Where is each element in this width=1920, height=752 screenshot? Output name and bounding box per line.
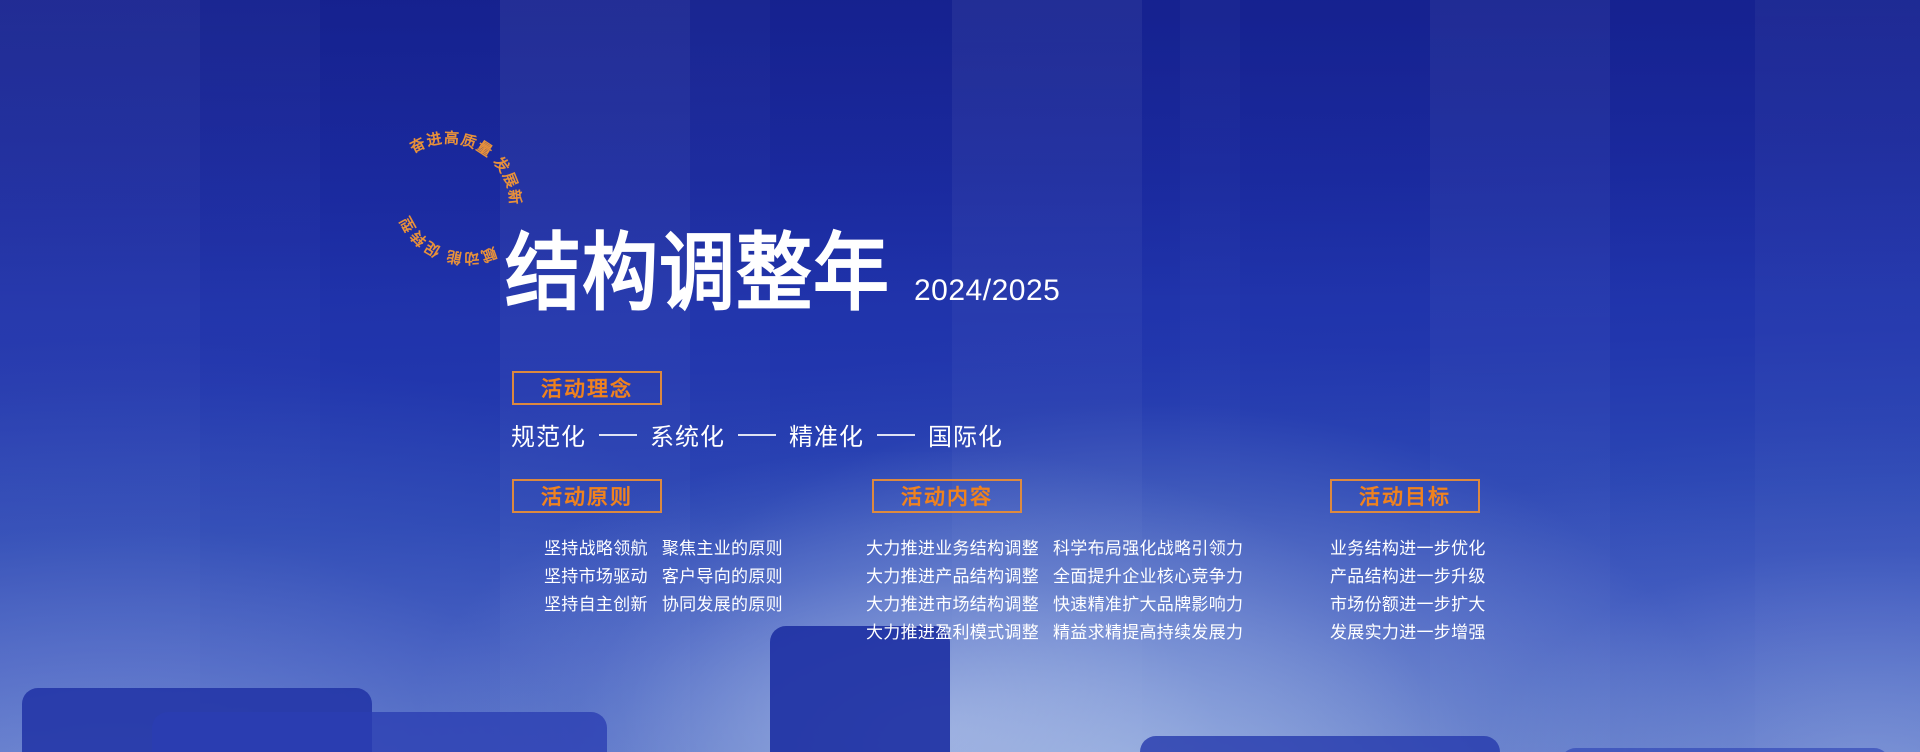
row-right: 协同发展的原则 xyxy=(662,591,783,619)
row-right: 全面提升企业核心竞争力 xyxy=(1053,563,1243,591)
concept-item: 系统化 xyxy=(650,417,725,452)
list-item: 市场份额进一步扩大 xyxy=(1330,591,1486,619)
badge-contents[interactable]: 活动内容 xyxy=(872,479,1022,513)
row-left: 产品结构进一步升级 xyxy=(1330,563,1486,591)
concept-item: 国际化 xyxy=(928,417,1003,452)
list-item: 坚持战略领航 聚焦主业的原则 xyxy=(544,535,783,563)
list-item: 业务结构进一步优化 xyxy=(1330,535,1486,563)
title-row: 结构调整年 2024/2025 xyxy=(505,243,1060,316)
banner-content: 奋进高质量 发展新征程 赋动能 促转型 增动能 结构调整年 2024/2025 … xyxy=(0,0,1920,752)
row-right: 客户导向的原则 xyxy=(662,563,783,591)
concept-item: 精准化 xyxy=(789,417,864,452)
badge-concept[interactable]: 活动理念 xyxy=(512,371,662,405)
list-item: 大力推进盈利模式调整 精益求精提高持续发展力 xyxy=(866,619,1243,647)
list-item: 产品结构进一步升级 xyxy=(1330,563,1486,591)
title-year: 2024/2025 xyxy=(914,274,1060,316)
row-right: 科学布局强化战略引领力 xyxy=(1053,535,1243,563)
row-left: 坚持市场驱动 xyxy=(544,563,648,591)
concept-list: 规范化 系统化 精准化 国际化 xyxy=(511,417,1003,452)
row-left: 发展实力进一步增强 xyxy=(1330,619,1486,647)
page-title: 结构调整年 xyxy=(505,234,890,316)
row-right: 快速精准扩大品牌影响力 xyxy=(1053,591,1243,619)
list-item: 大力推进产品结构调整 全面提升企业核心竞争力 xyxy=(866,563,1243,591)
concept-separator xyxy=(738,434,776,436)
concept-separator xyxy=(877,434,915,436)
row-left: 坚持战略领航 xyxy=(544,535,648,563)
emblem-arc-top-text: 奋进高质量 发展新征程 xyxy=(398,129,525,207)
row-left: 大力推进盈利模式调整 xyxy=(866,619,1039,647)
list-item: 大力推进市场结构调整 快速精准扩大品牌影响力 xyxy=(866,591,1243,619)
list-item: 发展实力进一步增强 xyxy=(1330,619,1486,647)
row-left: 坚持自主创新 xyxy=(544,591,648,619)
badge-goals[interactable]: 活动目标 xyxy=(1330,479,1480,513)
concept-separator xyxy=(599,434,637,436)
column-contents: 大力推进业务结构调整 科学布局强化战略引领力 大力推进产品结构调整 全面提升企业… xyxy=(866,535,1243,647)
column-goals: 业务结构进一步优化 产品结构进一步升级 市场份额进一步扩大 发展实力进一步增强 xyxy=(1330,535,1486,647)
row-left: 市场份额进一步扩大 xyxy=(1330,591,1486,619)
list-item: 大力推进业务结构调整 科学布局强化战略引领力 xyxy=(866,535,1243,563)
row-left: 大力推进业务结构调整 xyxy=(866,535,1039,563)
list-item: 坚持自主创新 协同发展的原则 xyxy=(544,591,783,619)
circular-emblem: 奋进高质量 发展新征程 赋动能 促转型 增动能 xyxy=(406,146,516,306)
column-principles: 坚持战略领航 聚焦主业的原则 坚持市场驱动 客户导向的原则 坚持自主创新 协同发… xyxy=(544,535,783,619)
row-right: 聚焦主业的原则 xyxy=(662,535,783,563)
list-item: 坚持市场驱动 客户导向的原则 xyxy=(544,563,783,591)
row-left: 大力推进市场结构调整 xyxy=(866,591,1039,619)
row-left: 大力推进产品结构调整 xyxy=(866,563,1039,591)
concept-item: 规范化 xyxy=(511,417,586,452)
row-right: 精益求精提高持续发展力 xyxy=(1053,619,1243,647)
badge-principles[interactable]: 活动原则 xyxy=(512,479,662,513)
row-left: 业务结构进一步优化 xyxy=(1330,535,1486,563)
